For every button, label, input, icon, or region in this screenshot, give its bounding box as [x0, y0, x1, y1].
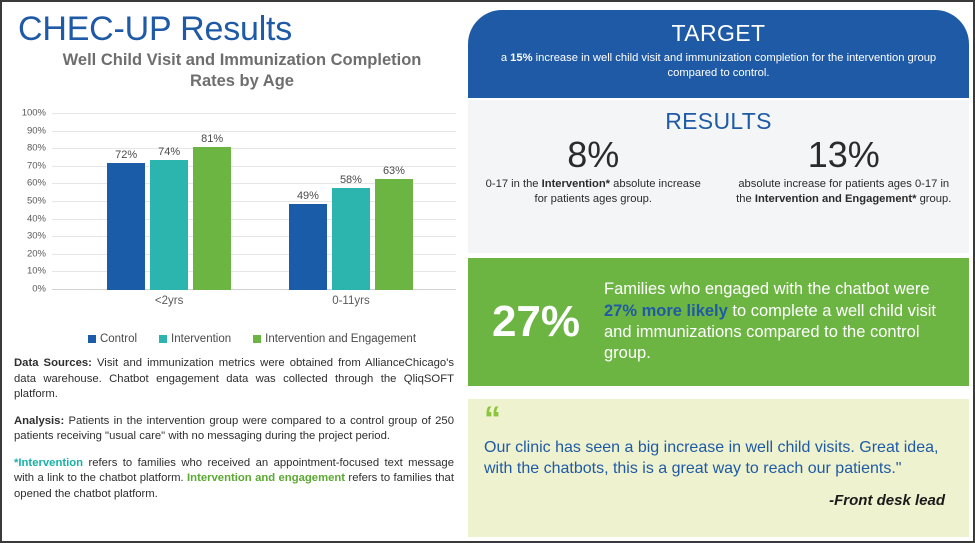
bar[interactable]: 81%: [193, 147, 231, 290]
target-sub-highlight: 15%: [510, 52, 532, 64]
bar[interactable]: 49%: [289, 204, 327, 290]
target-sub-prefix: a: [501, 52, 510, 64]
target-subtext: a 15% increase in well child visit and i…: [494, 51, 944, 81]
bar-value-label: 63%: [363, 165, 425, 177]
engagement-text-a: Families who engaged with the chatbot we…: [604, 280, 930, 298]
note-analysis: Analysis: Patients in the intervention g…: [14, 414, 454, 445]
engagement-card: 27% Families who engaged with the chatbo…: [468, 258, 969, 386]
legend-item[interactable]: Intervention: [159, 333, 231, 345]
page-title: CHEC-UP Results: [18, 10, 292, 49]
chart-legend: ControlInterventionIntervention and Enga…: [48, 333, 456, 345]
note-data-sources-label: Data Sources:: [14, 357, 92, 369]
legend-label: Intervention: [171, 333, 231, 345]
bar[interactable]: 63%: [375, 179, 413, 290]
legend-swatch-icon: [253, 335, 261, 343]
y-axis-tick-label: 40%: [27, 213, 46, 224]
results-stats-row: 8%0-17 in the Intervention* absolute inc…: [468, 137, 969, 207]
note-footnote: *Intervention refers to families who rec…: [14, 456, 454, 503]
y-axis-tick-label: 70%: [27, 160, 46, 171]
footnote-intervention-term: *Intervention: [14, 457, 83, 469]
results-heading: RESULTS: [468, 108, 969, 135]
bar-fill: [193, 147, 231, 290]
bar-group: 49%58%63%0-11yrs: [289, 114, 413, 290]
legend-item[interactable]: Control: [88, 333, 137, 345]
result-stat: 13%absolute increase for patients ages 0…: [719, 137, 970, 207]
bar-fill: [375, 179, 413, 290]
x-axis-category-label: 0-11yrs: [289, 295, 413, 307]
caption-part-a: 0-17 in the: [486, 178, 542, 190]
quote-card: “ Our clinic has seen a big increase in …: [468, 399, 969, 537]
quote-text: Our clinic has seen a big increase in we…: [484, 437, 953, 480]
legend-item[interactable]: Intervention and Engagement: [253, 333, 416, 345]
y-axis-tick-label: 10%: [27, 266, 46, 277]
note-data-sources: Data Sources: Visit and immunization met…: [14, 356, 454, 403]
caption-bold-term: Intervention*: [542, 178, 610, 190]
y-axis-tick-label: 60%: [27, 178, 46, 189]
y-axis-tick-label: 100%: [22, 108, 46, 119]
y-axis-tick-label: 20%: [27, 248, 46, 259]
result-stat-caption: 0-17 in the Intervention* absolute incre…: [482, 177, 705, 207]
y-axis-tick-label: 50%: [27, 196, 46, 207]
bar-value-label: 81%: [181, 133, 243, 145]
notes-section: Data Sources: Visit and immunization met…: [14, 356, 454, 503]
left-panel: CHEC-UP Results Well Child Visit and Imm…: [2, 2, 464, 541]
target-sub-rest: increase in well child visit and immuniz…: [533, 52, 937, 79]
result-stat: 8%0-17 in the Intervention* absolute inc…: [468, 137, 719, 207]
legend-label: Control: [100, 333, 137, 345]
y-axis-tick-label: 30%: [27, 231, 46, 242]
result-stat-caption: absolute increase for patients ages 0-17…: [733, 177, 956, 207]
engagement-text-highlight: 27% more likely: [604, 302, 728, 320]
legend-swatch-icon: [159, 335, 167, 343]
bar-fill: [150, 160, 188, 290]
bar-chart: 100%90%80%70%60%50%40%30%20%10%0%72%74%8…: [6, 106, 460, 312]
footnote-engagement-term: Intervention and engagement: [187, 472, 345, 484]
target-card: TARGET a 15% increase in well child visi…: [468, 10, 969, 98]
caption-part-b: group.: [916, 193, 951, 205]
bar[interactable]: 58%: [332, 188, 370, 290]
bar-fill: [332, 188, 370, 290]
engagement-stat-number: 27%: [468, 300, 604, 344]
note-analysis-text: Patients in the intervention group were …: [14, 415, 454, 443]
quote-attribution: -Front desk lead: [484, 492, 953, 509]
bar-value-label: 49%: [277, 190, 339, 202]
y-axis-tick-label: 90%: [27, 125, 46, 136]
legend-label: Intervention and Engagement: [265, 333, 416, 345]
quote-mark-icon: “: [484, 407, 953, 433]
result-stat-number: 13%: [733, 137, 956, 174]
chart-subtitle: Well Child Visit and Immunization Comple…: [42, 50, 442, 92]
bar[interactable]: 72%: [107, 163, 145, 290]
caption-bold-term: Intervention and Engagement*: [755, 193, 917, 205]
target-heading: TARGET: [468, 20, 969, 47]
legend-swatch-icon: [88, 335, 96, 343]
bar[interactable]: 74%: [150, 160, 188, 290]
x-axis-category-label: <2yrs: [107, 295, 231, 307]
y-axis-tick-label: 80%: [27, 143, 46, 154]
right-panel: TARGET a 15% increase in well child visi…: [468, 10, 969, 537]
results-card: RESULTS 8%0-17 in the Intervention* abso…: [468, 100, 969, 253]
bar-fill: [289, 204, 327, 290]
bar-fill: [107, 163, 145, 290]
bar-value-label: 74%: [138, 146, 200, 158]
bar-group: 72%74%81%<2yrs: [107, 114, 231, 290]
engagement-stat-text: Families who engaged with the chatbot we…: [604, 279, 969, 365]
infographic-poster: CHEC-UP Results Well Child Visit and Imm…: [0, 0, 975, 543]
note-analysis-label: Analysis:: [14, 415, 64, 427]
result-stat-number: 8%: [482, 137, 705, 174]
y-axis-tick-label: 0%: [32, 284, 46, 295]
chart-plot-area: 100%90%80%70%60%50%40%30%20%10%0%72%74%8…: [52, 114, 456, 290]
